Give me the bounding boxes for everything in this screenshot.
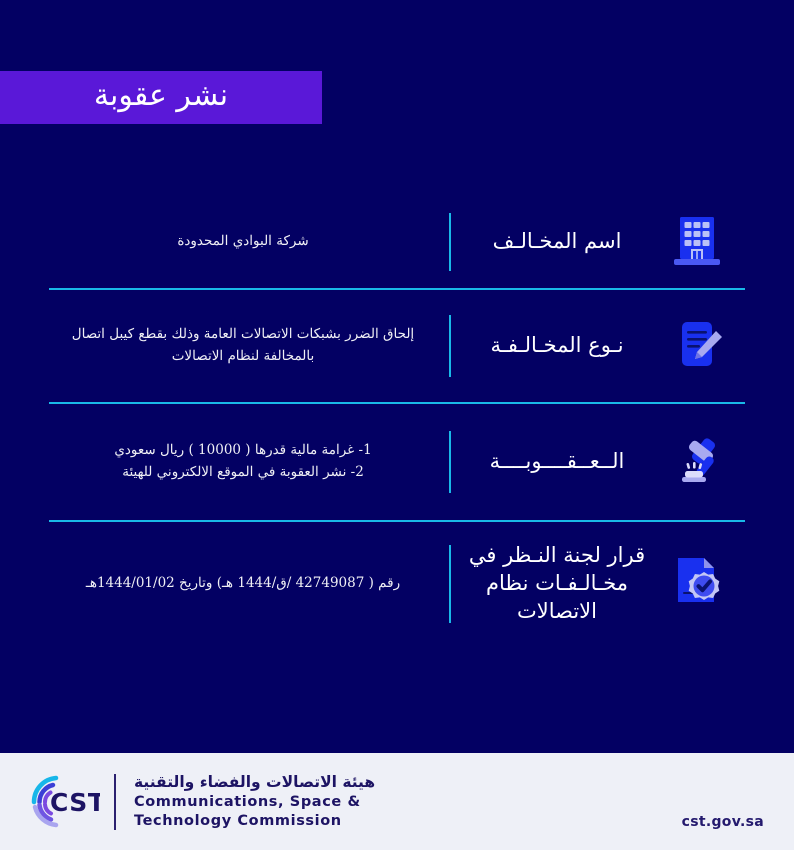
footer-org-name-en-line2: Technology Commission [134,812,375,831]
detail-value-violator-name: شركة البوادي المحدودة [49,231,437,253]
building-icon [649,215,745,269]
footer-org-name-ar: هيئة الاتصالات والفضاء والتقنية [134,773,375,791]
gavel-icon [649,433,745,491]
document-approved-icon [649,554,745,614]
row-vertical-divider [449,315,451,377]
detail-row-penalty: الــعــقــــوبــــة 1- غرامة مالية قدرها… [0,404,794,520]
footer-website-url[interactable]: cst.gov.sa [682,814,764,830]
footer-org-name: هيئة الاتصالات والفضاء والتقنية Communic… [134,773,375,830]
detail-label-penalty: الــعــقــــوبــــة [465,448,649,476]
row-vertical-divider [449,545,451,623]
footer: CST هيئة الاتصالات والفضاء والتقنية Comm… [0,753,794,850]
row-vertical-divider [449,213,451,271]
penalty-item-1: 1- غرامة مالية قدرها ( 10000 ) ريال سعود… [49,440,437,462]
penalty-item-2: 2- نشر العقوبة في الموقع الالكتروني للهي… [49,462,437,484]
detail-label-violation-type: نـوع المخـالـفـة [465,332,649,360]
svg-text:CST: CST [50,788,100,817]
penalty-details-list: اسم المخـالـف شركة البوادي المحدودة نـوع… [0,196,794,646]
page-title: نشر عقوبة [94,81,228,114]
document-pen-icon [649,317,745,375]
detail-row-committee-decision: قرار لجنة النـظر في مخـالـفـات نظام الات… [0,522,794,646]
footer-org-name-en-line1: Communications, Space & [134,793,375,812]
detail-value-violation-type: إلحاق الضرر بشبكات الاتصالات العامة وذلك… [49,324,437,367]
page-title-banner: نشر عقوبة [0,71,322,124]
detail-row-violation-type: نـوع المخـالـفـة إلحاق الضرر بشبكات الات… [0,290,794,402]
row-vertical-divider [449,431,451,493]
detail-row-violator-name: اسم المخـالـف شركة البوادي المحدودة [0,196,794,288]
detail-label-committee-decision: قرار لجنة النـظر في مخـالـفـات نظام الات… [465,542,649,625]
detail-value-committee-decision: رقم ( 42749087 /ق/1444 هـ) وتاريخ 1444/0… [49,573,437,595]
detail-label-violator-name: اسم المخـالـف [465,228,649,256]
footer-divider [114,774,116,830]
cst-logo: CST [26,772,100,832]
detail-value-penalty: 1- غرامة مالية قدرها ( 10000 ) ريال سعود… [49,440,437,483]
